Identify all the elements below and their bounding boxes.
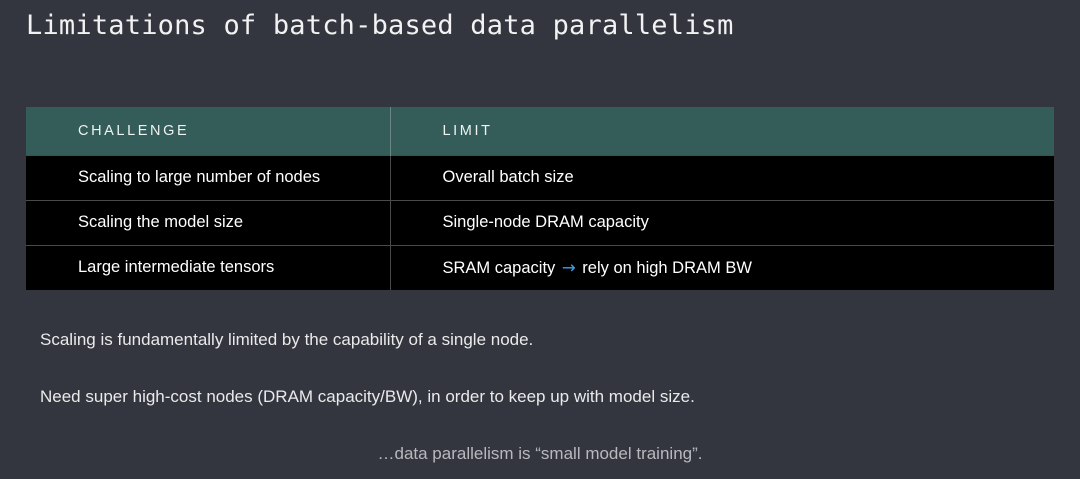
cell-limit: Single-node DRAM capacity (390, 200, 1054, 245)
cell-limit-text: Overall batch size (443, 168, 574, 186)
column-header-limit: LIMIT (390, 107, 1054, 155)
limitations-table-container: CHALLENGE LIMIT Scaling to large number … (26, 107, 1054, 290)
table-row: Scaling to large number of nodes Overall… (26, 155, 1054, 200)
page-title: Limitations of batch-based data parallel… (26, 8, 734, 44)
note-line-1: Scaling is fundamentally limited by the … (40, 320, 1080, 359)
right-arrow-icon: → (560, 258, 578, 277)
summary-notes: Scaling is fundamentally limited by the … (0, 320, 1080, 473)
limitations-table: CHALLENGE LIMIT Scaling to large number … (26, 107, 1054, 290)
table-header-row: CHALLENGE LIMIT (26, 107, 1054, 155)
table-row: Scaling the model size Single-node DRAM … (26, 200, 1054, 245)
column-header-challenge: CHALLENGE (26, 107, 390, 155)
cell-limit-text-prefix: SRAM capacity (443, 259, 560, 277)
table-body: Scaling to large number of nodes Overall… (26, 155, 1054, 290)
note-line-3: …data parallelism is “small model traini… (0, 434, 1080, 473)
cell-challenge: Large intermediate tensors (26, 245, 390, 290)
cell-challenge: Scaling the model size (26, 200, 390, 245)
cell-limit-text: Single-node DRAM capacity (443, 213, 649, 231)
note-line-2: Need super high-cost nodes (DRAM capacit… (40, 377, 1080, 416)
table-header: CHALLENGE LIMIT (26, 107, 1054, 155)
cell-limit: SRAM capacity → rely on high DRAM BW (390, 245, 1054, 290)
cell-limit-text-suffix: rely on high DRAM BW (578, 259, 752, 277)
slide-canvas: Limitations of batch-based data parallel… (0, 0, 1080, 479)
table-row: Large intermediate tensors SRAM capacity… (26, 245, 1054, 290)
cell-challenge: Scaling to large number of nodes (26, 155, 390, 200)
cell-limit: Overall batch size (390, 155, 1054, 200)
